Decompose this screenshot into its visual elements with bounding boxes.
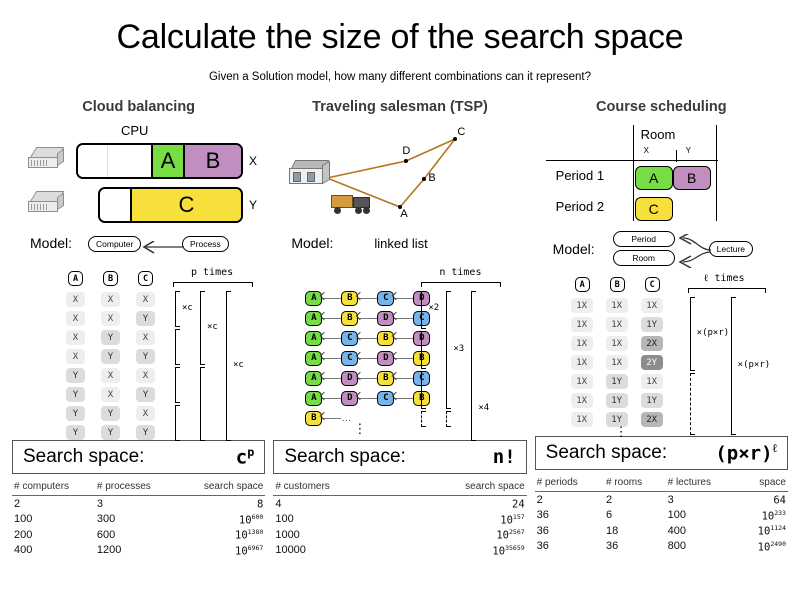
chain-arrow-icon xyxy=(394,311,413,326)
table-row: 200 600 101380 xyxy=(12,527,265,543)
combo-cell: 1X xyxy=(571,336,593,351)
cell-periods: 36 xyxy=(535,523,604,539)
mult-label: ×2 xyxy=(428,303,439,313)
bracket xyxy=(175,367,180,403)
bracket-dashed xyxy=(421,411,426,427)
cell-customers: 1000 xyxy=(273,527,394,543)
table-row: 10000 1035659 xyxy=(273,543,526,559)
combo-cell: Y xyxy=(101,425,120,440)
col-header: search space xyxy=(176,480,265,496)
chain-node: A xyxy=(305,331,322,346)
combo-cell: Y xyxy=(136,387,155,402)
chain-arrow-icon xyxy=(358,331,377,346)
cell-space: 10233 xyxy=(738,508,788,524)
relation-arrow xyxy=(136,241,196,255)
cell-space: 101124 xyxy=(738,523,788,539)
col-header: # lectures xyxy=(666,476,739,492)
chain-row: A C B D xyxy=(305,331,430,346)
cell-space: 10600 xyxy=(176,512,265,528)
chain-arrow-icon xyxy=(358,291,377,306)
cell-processes: 1200 xyxy=(95,543,176,559)
chain-node: B xyxy=(377,371,394,386)
tsp-search-space-box: Search space: n! xyxy=(273,440,526,474)
period-label-2: Period 2 xyxy=(556,199,604,214)
search-space-formula: n! xyxy=(406,446,516,468)
bracket xyxy=(421,331,426,369)
cloud-combo-grid: A B C X X X X X Y X Y X X Y Y Y X X Y X … xyxy=(8,265,269,440)
cell-rooms: 36 xyxy=(604,539,666,555)
bracket xyxy=(175,329,180,365)
chain-row: A D B C xyxy=(305,371,430,386)
top-brace xyxy=(173,282,253,287)
combo-cell: X xyxy=(101,311,120,326)
course-search-space-box: Search space: (p×r)ℓ xyxy=(535,436,788,470)
combo-cell: X xyxy=(66,349,85,364)
cell-space: 102490 xyxy=(738,539,788,555)
cell-space: 1035659 xyxy=(395,543,527,559)
course-heading: Course scheduling xyxy=(531,99,792,115)
cell-rooms: 2 xyxy=(604,492,666,508)
chain-arrow-icon xyxy=(394,351,413,366)
chain-arrow-icon xyxy=(394,391,413,406)
combo-cell: Y xyxy=(136,425,155,440)
cell-space: 10157 xyxy=(395,512,527,528)
search-space-formula: (p×r)ℓ xyxy=(667,441,777,464)
combo-cell: Y xyxy=(66,387,85,402)
cell-computers: 2 xyxy=(12,496,95,512)
mult-label: ×c xyxy=(182,303,193,313)
course-search-space-table: # periods # rooms # lectures space 2 2 3… xyxy=(535,476,788,554)
table-row: 36 6 100 10233 xyxy=(535,508,788,524)
column-tsp: Traveling salesman (TSP) A B C D xyxy=(269,99,530,558)
combo-cell: 1Y xyxy=(641,317,663,332)
cell-lectures: 3 xyxy=(666,492,739,508)
combo-cell: 1Y xyxy=(641,393,663,408)
mult-label: ×(p×r) xyxy=(738,360,771,370)
combo-cell: X xyxy=(66,292,85,307)
schedule-cell-b[interactable]: B xyxy=(673,166,711,190)
course-combo-grid: A B C 1X 1X 1X 1X 1X 1Y 1X 1X 2X 1X 1X 2… xyxy=(531,271,792,436)
grid-line-h xyxy=(546,160,718,161)
chain-node: B xyxy=(305,411,322,426)
col-header: search space xyxy=(395,480,527,496)
combo-cell: 1X xyxy=(606,298,628,313)
combo-cell: 1X xyxy=(606,355,628,370)
combo-cell: Y xyxy=(136,349,155,364)
chain-row: A B D C xyxy=(305,311,430,326)
server-icon xyxy=(28,147,64,173)
bracket xyxy=(471,291,476,441)
chain-arrow-icon xyxy=(358,351,377,366)
mult-label: ×3 xyxy=(453,344,464,354)
search-space-formula: cp xyxy=(144,445,254,468)
chain-arrow-icon xyxy=(322,411,341,426)
grid-line-v xyxy=(633,125,634,221)
cell-lectures: 400 xyxy=(666,523,739,539)
combo-cell: X xyxy=(66,311,85,326)
truck-icon xyxy=(331,193,375,215)
combo-header-b: B xyxy=(610,277,625,292)
combo-cell: 1X xyxy=(606,317,628,332)
tsp-combo-grid: n times A B C D A B D C A xyxy=(269,265,530,440)
tsp-diagram: A B C D xyxy=(269,121,530,231)
relation-arrows xyxy=(671,234,715,268)
table-row: 4 24 xyxy=(273,496,526,512)
col-header: # periods xyxy=(535,476,604,492)
cpu-bar-y: C xyxy=(98,187,243,223)
cell-processes: 3 xyxy=(95,496,176,512)
course-model-row: Model: Period Room Lecture xyxy=(531,233,792,269)
combo-cell: Y xyxy=(101,406,120,421)
chain-node: D xyxy=(341,371,358,386)
grid-line-v xyxy=(716,125,717,221)
table-row: 2 2 3 64 xyxy=(535,492,788,508)
chain-node: A xyxy=(305,311,322,326)
combo-cell: X xyxy=(136,368,155,383)
cell-periods: 36 xyxy=(535,508,604,524)
combo-cell: 2X xyxy=(641,412,663,427)
cloud-diagram: CPU A B X C Y xyxy=(8,121,269,231)
combo-header-c: C xyxy=(645,277,660,292)
combo-cell: X xyxy=(136,406,155,421)
chain-node: A xyxy=(305,351,322,366)
chain-arrow-icon xyxy=(322,391,341,406)
chain-node: D xyxy=(341,391,358,406)
cell-customers: 10000 xyxy=(273,543,394,559)
model-text: linked list xyxy=(374,236,427,251)
bracket-dashed xyxy=(446,411,451,427)
node-label-a: A xyxy=(400,208,407,220)
search-space-label: Search space: xyxy=(23,446,144,468)
bar-segment-b[interactable]: B xyxy=(185,145,241,177)
col-header: # rooms xyxy=(604,476,666,492)
chain-node: C xyxy=(377,391,394,406)
bracket xyxy=(200,367,205,441)
column-course-scheduling: Course scheduling Room X Y Period 1 Peri… xyxy=(531,99,792,558)
chain-arrow-icon xyxy=(358,391,377,406)
combo-cell: X xyxy=(136,292,155,307)
cell-space: 8 xyxy=(176,496,265,512)
table-row: 1000 102567 xyxy=(273,527,526,543)
server-icon xyxy=(28,191,64,217)
cloud-search-space-table: # computers # processes search space 2 3… xyxy=(12,480,265,558)
chain-arrow-icon xyxy=(322,351,341,366)
search-space-label: Search space: xyxy=(546,442,667,464)
combo-header-b: B xyxy=(103,271,118,286)
combo-cell: X xyxy=(101,368,120,383)
combo-cell: 1X xyxy=(571,374,593,389)
bar-tag-y: Y xyxy=(249,198,257,212)
combo-cell: Y xyxy=(66,406,85,421)
bracket xyxy=(446,291,451,409)
cell-lectures: 100 xyxy=(666,508,739,524)
chain-node: A xyxy=(305,391,322,406)
bracket xyxy=(175,291,180,327)
cell-rooms: 18 xyxy=(604,523,666,539)
schedule-cell-a[interactable]: A xyxy=(635,166,673,190)
chain-node: B xyxy=(341,311,358,326)
combo-cell: 1Y xyxy=(606,393,628,408)
combo-cell: 1X xyxy=(571,317,593,332)
cell-processes: 600 xyxy=(95,527,176,543)
combo-cell: 1X xyxy=(571,298,593,313)
chain-arrow-icon xyxy=(322,371,341,386)
cell-computers: 400 xyxy=(12,543,95,559)
chain-arrow-icon xyxy=(322,311,341,326)
chain-arrow-icon xyxy=(358,311,377,326)
chain-row: A C D B xyxy=(305,351,430,366)
chain-row: A B C D xyxy=(305,291,430,306)
room-label: Room xyxy=(641,127,676,142)
cell-computers: 200 xyxy=(12,527,95,543)
cell-space: 101380 xyxy=(176,527,265,543)
schedule-cell-c[interactable]: C xyxy=(635,197,673,221)
entity-computer[interactable]: Computer xyxy=(88,236,141,252)
combo-cell: 1X xyxy=(571,412,593,427)
tsp-model-row: Model: linked list xyxy=(269,233,530,259)
column-cloud-balancing: Cloud balancing CPU A B X C Y M xyxy=(8,99,269,558)
chain-arrow-icon xyxy=(394,371,413,386)
cell-lectures: 800 xyxy=(666,539,739,555)
vertical-ellipsis: ⋮ xyxy=(353,428,366,432)
combo-cell: 1X xyxy=(571,355,593,370)
chain-node: A xyxy=(305,371,322,386)
table-row: 36 36 800 102490 xyxy=(535,539,788,555)
chain-arrow-icon xyxy=(358,371,377,386)
combo-header-a: A xyxy=(68,271,83,286)
col-header: # processes xyxy=(95,480,176,496)
combo-cell: 2X xyxy=(641,336,663,351)
cell-computers: 100 xyxy=(12,512,95,528)
bracket xyxy=(731,297,736,435)
chain-row: A D C B xyxy=(305,391,430,406)
table-header-row: # periods # rooms # lectures space xyxy=(535,476,788,492)
cell-periods: 36 xyxy=(535,539,604,555)
room-col-y: Y xyxy=(686,146,691,155)
bracket xyxy=(175,405,180,441)
mult-label: ×(p×r) xyxy=(697,328,730,338)
table-row: 2 3 8 xyxy=(12,496,265,512)
cell-space: 102567 xyxy=(395,527,527,543)
combo-cell: Y xyxy=(136,311,155,326)
cell-processes: 300 xyxy=(95,512,176,528)
node-label-d: D xyxy=(402,145,410,157)
combo-cell: X xyxy=(136,330,155,345)
course-times-label: ℓ times xyxy=(704,273,745,284)
page-subtitle: Given a Solution model, how many differe… xyxy=(0,54,800,83)
chain-row-partial: B … xyxy=(305,411,351,426)
chain-arrow-icon xyxy=(394,331,413,346)
cloud-search-space-box: Search space: cp xyxy=(12,440,265,474)
ellipsis: … xyxy=(341,413,351,424)
warehouse-icon xyxy=(289,159,331,191)
period-label-1: Period 1 xyxy=(556,168,604,183)
combo-cell: 1X xyxy=(641,298,663,313)
combo-cell: X xyxy=(101,292,120,307)
node-label-b: B xyxy=(428,172,435,184)
chain-node: D xyxy=(377,311,394,326)
combo-cell: X xyxy=(101,387,120,402)
bracket-dashed xyxy=(690,373,695,435)
chain-node: C xyxy=(377,291,394,306)
bar-tag-x: X xyxy=(249,154,257,168)
bracket xyxy=(200,291,205,365)
entity-period[interactable]: Period xyxy=(613,231,675,247)
cell-customers: 100 xyxy=(273,512,394,528)
cloud-heading: Cloud balancing xyxy=(8,99,269,115)
bracket xyxy=(421,291,426,329)
chain-node: D xyxy=(377,351,394,366)
col-header: space xyxy=(738,476,788,492)
combo-cell: Y xyxy=(101,330,120,345)
cell-periods: 2 xyxy=(535,492,604,508)
combo-cell: 1X xyxy=(571,393,593,408)
table-row: 100 300 10600 xyxy=(12,512,265,528)
chain-arrow-icon xyxy=(394,291,413,306)
table-row: 36 18 400 101124 xyxy=(535,523,788,539)
table-header-row: # customers search space xyxy=(273,480,526,496)
vertical-ellipsis: ⋮ xyxy=(615,431,628,435)
cloud-times-label: p times xyxy=(191,267,233,278)
model-label: Model: xyxy=(30,235,72,251)
combo-cell: 2Y xyxy=(641,355,663,370)
bracket xyxy=(690,297,695,371)
chain-node: C xyxy=(341,331,358,346)
chain-node: A xyxy=(305,291,322,306)
room-col-x: X xyxy=(644,146,649,155)
page-title: Calculate the size of the search space xyxy=(0,0,800,54)
combo-cell: 1Y xyxy=(606,374,628,389)
mult-label: ×4 xyxy=(478,403,489,413)
chain-node: C xyxy=(341,351,358,366)
table-header-row: # computers # processes search space xyxy=(12,480,265,496)
cloud-model-row: Model: Computer Process xyxy=(8,233,269,259)
search-space-label: Search space: xyxy=(284,446,405,468)
combo-cell: 1X xyxy=(641,374,663,389)
combo-cell: 1X xyxy=(606,336,628,351)
cell-space: 64 xyxy=(738,492,788,508)
mult-label: ×c xyxy=(233,360,244,370)
cpu-label: CPU xyxy=(121,123,148,138)
tsp-heading: Traveling salesman (TSP) xyxy=(269,99,530,115)
bar-segment-a[interactable]: A xyxy=(153,145,185,177)
table-row: 100 10157 xyxy=(273,512,526,528)
tsp-times-label: n times xyxy=(439,267,481,278)
entity-lecture[interactable]: Lecture xyxy=(709,241,753,257)
model-label: Model: xyxy=(291,235,333,251)
chain-node: B xyxy=(377,331,394,346)
cell-space: 24 xyxy=(395,496,527,512)
col-header: # computers xyxy=(12,480,95,496)
chain-node: B xyxy=(341,291,358,306)
cpu-bar-x: A B xyxy=(76,143,243,179)
combo-cell: Y xyxy=(101,349,120,364)
table-row: 400 1200 106967 xyxy=(12,543,265,559)
course-diagram: Room X Y Period 1 Period 2 A B C xyxy=(531,121,792,231)
cell-rooms: 6 xyxy=(604,508,666,524)
col-header: # customers xyxy=(273,480,394,496)
combo-cell: X xyxy=(66,330,85,345)
cell-customers: 4 xyxy=(273,496,394,512)
combo-header-c: C xyxy=(138,271,153,286)
bar-segment-c[interactable]: C xyxy=(132,189,241,221)
top-brace xyxy=(421,282,501,287)
tsp-search-space-table: # customers search space 4 24 100 10157 … xyxy=(273,480,526,558)
mult-label: ×c xyxy=(207,322,218,332)
combo-cell: Y xyxy=(66,368,85,383)
bracket xyxy=(421,371,426,409)
chain-arrow-icon xyxy=(322,331,341,346)
combo-cell: Y xyxy=(66,425,85,440)
cell-space: 106967 xyxy=(176,543,265,559)
chain-arrow-icon xyxy=(322,291,341,306)
combo-header-a: A xyxy=(575,277,590,292)
columns-container: Cloud balancing CPU A B X C Y M xyxy=(0,99,800,558)
node-label-c: C xyxy=(457,126,465,138)
top-brace xyxy=(688,288,766,293)
entity-room[interactable]: Room xyxy=(613,250,675,266)
bracket xyxy=(226,291,231,441)
model-label: Model: xyxy=(553,241,595,257)
